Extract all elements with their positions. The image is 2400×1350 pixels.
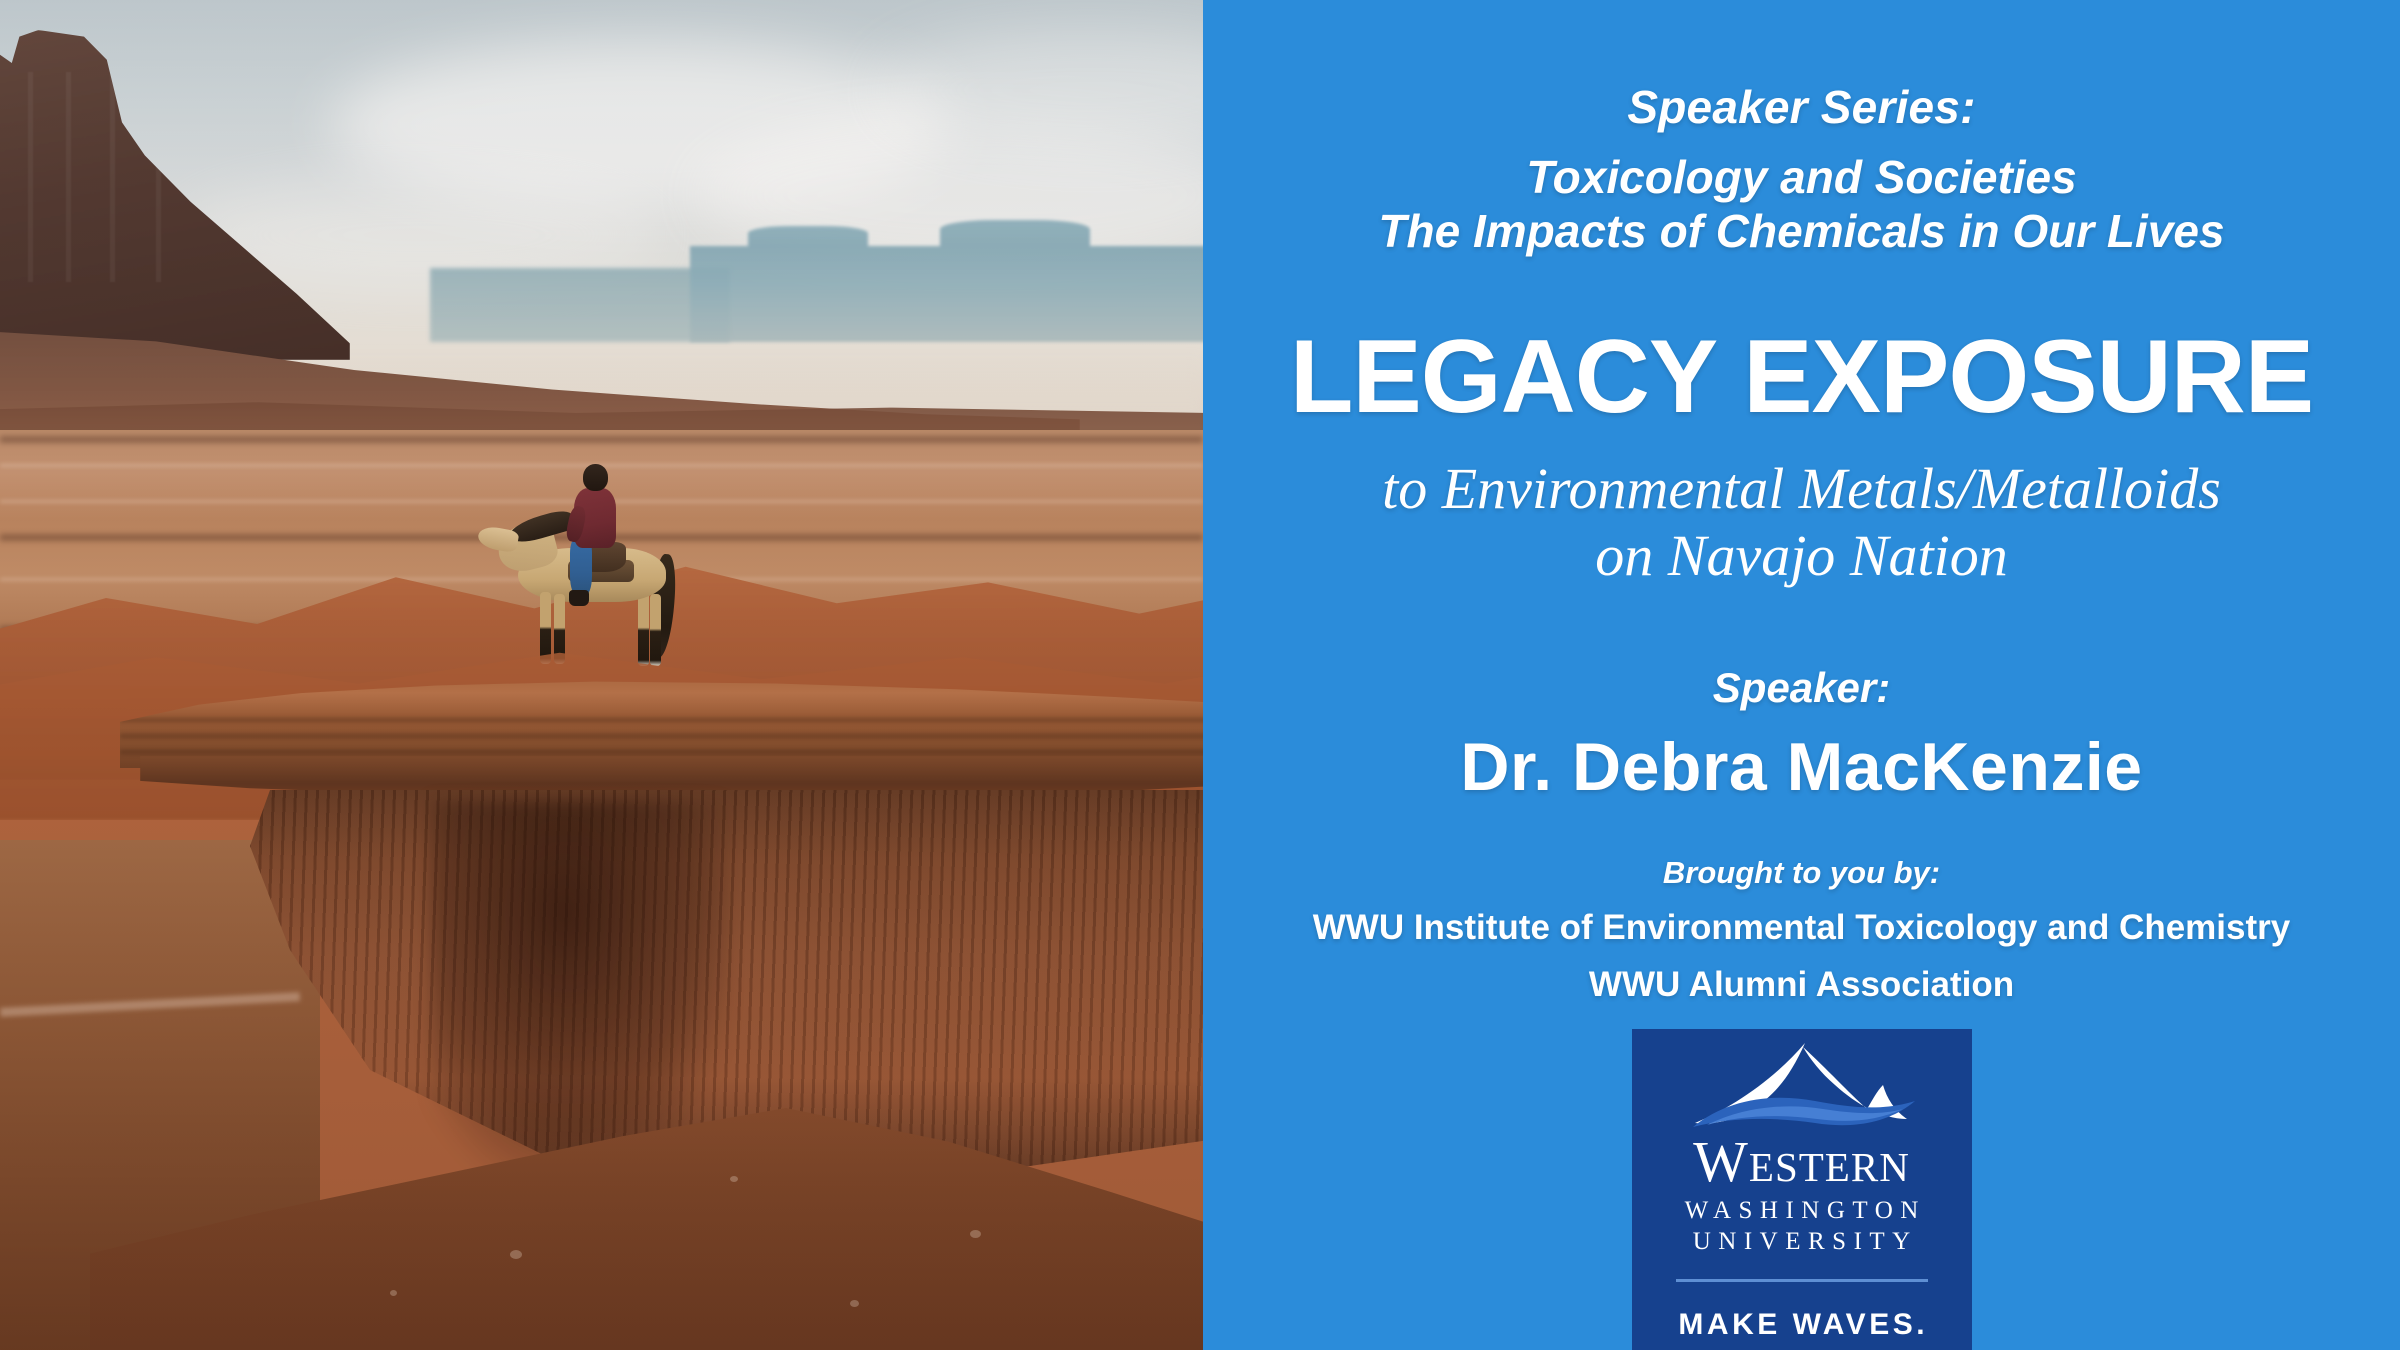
distant-mesa [430, 268, 730, 342]
organization-1: WWU Institute of Environmental Toxicolog… [1243, 888, 2360, 945]
horse-leg [650, 594, 661, 666]
distant-mesa [690, 246, 1203, 342]
logo-tagline: MAKE WAVES. [1632, 1282, 1972, 1342]
speaker-name: Dr. Debra MacKenzie [1243, 709, 2360, 801]
cliff-shadow [430, 800, 730, 1180]
info-panel: Speaker Series: Toxicology and Societies… [1203, 0, 2400, 1350]
subtitle-line-1: to Environmental Metals/Metalloids [1243, 429, 2360, 522]
brought-to-you-by-label: Brought to you by: [1243, 801, 2360, 888]
rider-boot [569, 590, 589, 606]
series-label: Speaker Series: [1243, 0, 2360, 130]
logo-wordmark-western: Western [1632, 1133, 1972, 1191]
speaker-label: Speaker: [1243, 589, 2360, 709]
organization-2: WWU Alumni Association [1243, 945, 2360, 1002]
landscape-photo [0, 0, 1203, 1350]
logo-wordmark-washington: WASHINGTON [1632, 1191, 1972, 1226]
horse-leg [540, 592, 551, 664]
subtitle-line-2: on Navajo Nation [1243, 522, 2360, 589]
series-subtitle-line-2: The Impacts of Chemicals in Our Lives [1243, 204, 2360, 258]
horse-leg [638, 592, 649, 666]
logo-wordmark-university: UNIVERSITY [1632, 1226, 1972, 1257]
series-subtitle-line-1: Toxicology and Societies [1243, 150, 2360, 204]
horseback-rider [470, 450, 730, 690]
mountain-wave-icon [1632, 1029, 1972, 1133]
rider-head [583, 464, 608, 491]
page-title: LEGACY EXPOSURE [1243, 259, 2360, 429]
event-poster: Speaker Series: Toxicology and Societies… [0, 0, 2400, 1350]
wwu-logo: Western WASHINGTON UNIVERSITY MAKE WAVES… [1632, 1029, 1972, 1350]
